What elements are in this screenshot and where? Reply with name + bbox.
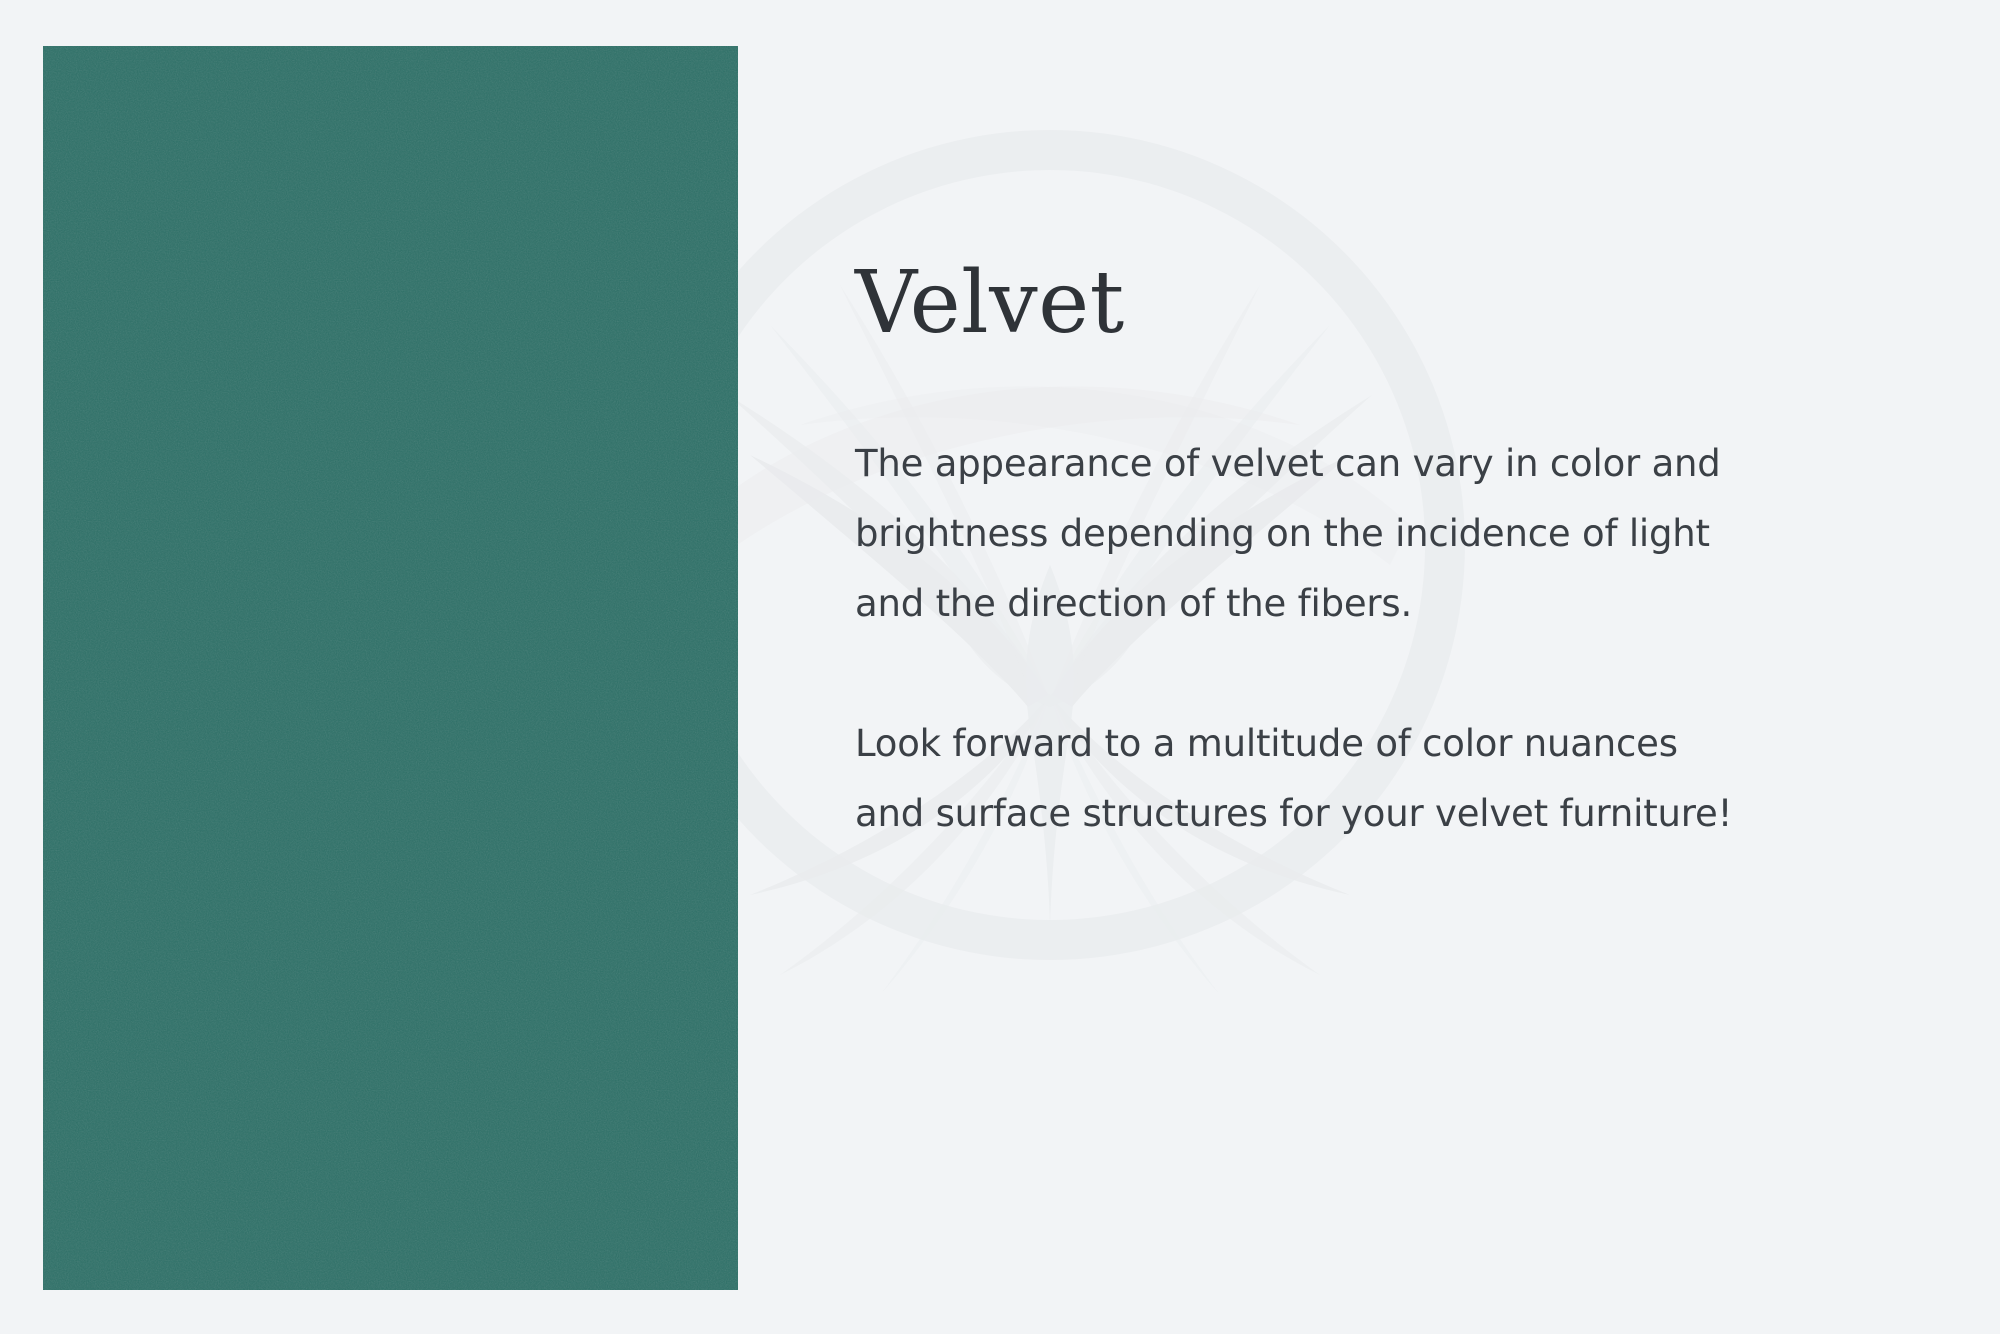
- paragraph-outro: Look forward to a multitude of color nua…: [855, 709, 1865, 849]
- paragraph-outro-line-1: Look forward to a multitude of color nua…: [855, 709, 1865, 779]
- text-content-column: Velvet The appearance of velvet can vary…: [855, 255, 1865, 849]
- velvet-info-banner: Velvet The appearance of velvet can vary…: [0, 0, 2000, 1334]
- page-title: Velvet: [855, 255, 1865, 351]
- paragraph-intro-line-3: and the direction of the fibers.: [855, 569, 1865, 639]
- paragraph-intro-line-1: The appearance of velvet can vary in col…: [855, 429, 1865, 499]
- velvet-fabric-swatches-photo: [43, 46, 738, 1290]
- paragraph-outro-line-2: and surface structures for your velvet f…: [855, 779, 1865, 849]
- paragraph-intro-line-2: brightness depending on the incidence of…: [855, 499, 1865, 569]
- paragraph-intro: The appearance of velvet can vary in col…: [855, 429, 1865, 639]
